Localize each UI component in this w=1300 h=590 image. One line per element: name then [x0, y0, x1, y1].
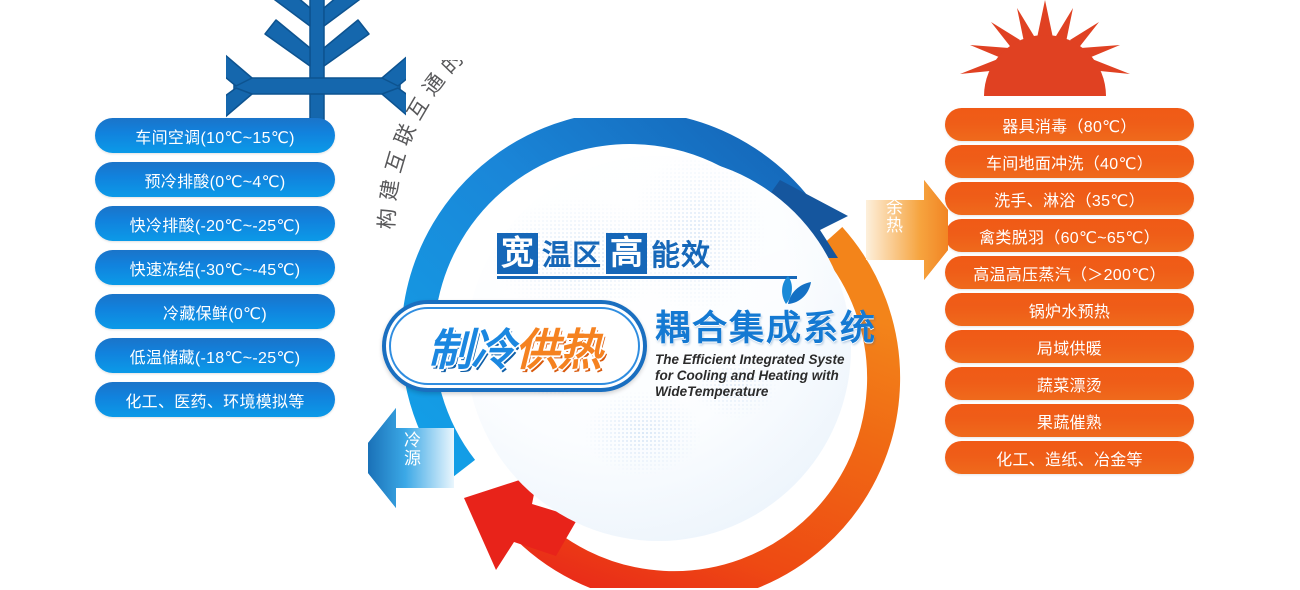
english-subtitle-line2: for Cooling and Heating with WideTempera…	[655, 368, 945, 400]
english-subtitle: The Efficient Integrated Syste for Cooli…	[655, 352, 945, 400]
list-item[interactable]: 果蔬催熟	[945, 404, 1194, 437]
list-item[interactable]: 车间空调(10℃~15℃)	[95, 118, 335, 153]
waste-heat-label: 余热	[880, 199, 910, 235]
badge-word-cooling: 制冷	[428, 314, 514, 378]
headline-part-high: 高	[606, 233, 647, 274]
badge-word-heating: 供热	[515, 314, 601, 378]
list-item[interactable]: 化工、医药、环境模拟等	[95, 382, 335, 417]
list-item[interactable]: 预冷排酸(0℃~4℃)	[95, 162, 335, 197]
sun-icon	[958, 0, 1133, 113]
list-item[interactable]: 锅炉水预热	[945, 293, 1194, 326]
headline-part-efficiency: 能效	[649, 236, 713, 274]
list-item[interactable]: 化工、造纸、冶金等	[945, 441, 1194, 474]
cold-applications-list: 车间空调(10℃~15℃) 预冷排酸(0℃~4℃) 快冷排酸(-20℃~-25℃…	[95, 118, 335, 417]
snowflake-icon	[226, 0, 406, 127]
english-subtitle-line1: The Efficient Integrated Syste	[655, 352, 945, 368]
headline-part-temp-zone: 温区	[540, 236, 604, 274]
cold-source-label: 冷源	[398, 432, 428, 468]
list-item[interactable]: 车间地面冲洗（40℃）	[945, 145, 1194, 178]
list-item[interactable]: 器具消毒（80℃）	[945, 108, 1194, 141]
heat-applications-list: 器具消毒（80℃） 车间地面冲洗（40℃） 洗手、淋浴（35℃） 禽类脱羽（60…	[945, 108, 1194, 474]
list-item[interactable]: 冷藏保鲜(0℃)	[95, 294, 335, 329]
list-item[interactable]: 快速冻结(-30℃~-45℃)	[95, 250, 335, 285]
headline-line: 宽 温区 高 能效	[497, 232, 957, 274]
list-item[interactable]: 局域供暖	[945, 330, 1194, 363]
list-item[interactable]: 高温高压蒸汽（＞200℃）	[945, 256, 1194, 289]
list-item[interactable]: 快冷排酸(-20℃~-25℃)	[95, 206, 335, 241]
list-item[interactable]: 禽类脱羽（60℃~65℃）	[945, 219, 1194, 252]
badge-text: 制冷 供热	[382, 300, 647, 392]
list-item[interactable]: 洗手、淋浴（35℃）	[945, 182, 1194, 215]
system-title: 耦合集成系统	[655, 300, 877, 351]
headline-part-wide: 宽	[497, 233, 538, 274]
infographic-canvas: 车间空调(10℃~15℃) 预冷排酸(0℃~4℃) 快冷排酸(-20℃~-25℃…	[0, 0, 1300, 590]
list-item[interactable]: 蔬菜漂烫	[945, 367, 1194, 400]
list-item[interactable]: 低温储藏(-18℃~-25℃)	[95, 338, 335, 373]
cooling-heating-badge: 制冷 供热	[382, 300, 647, 392]
headline-block: 宽 温区 高 能效	[497, 232, 957, 279]
headline-underline	[497, 276, 797, 279]
